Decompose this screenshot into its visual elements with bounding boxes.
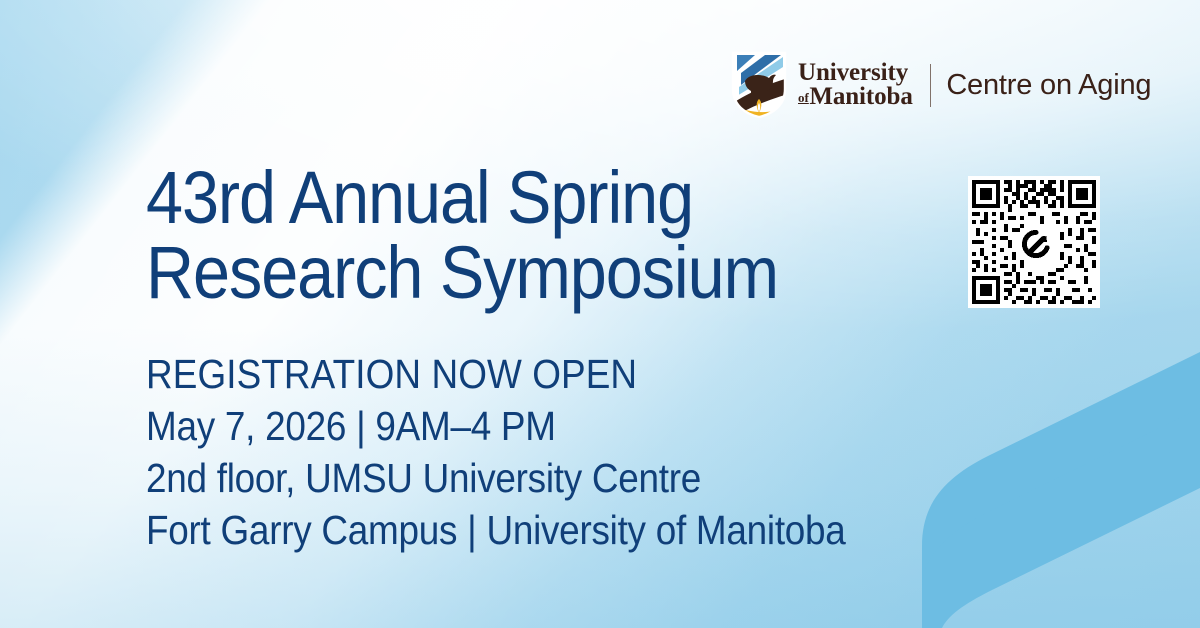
headline-line1: 43rd Annual Spring <box>146 160 830 235</box>
details-venue: 2nd floor, UMSU University Centre <box>146 452 884 504</box>
wordmark-line2: ofManitoba <box>798 85 913 109</box>
page-title: 43rd Annual Spring Research Symposium <box>146 160 830 311</box>
details-campus: Fort Garry Campus | University of Manito… <box>146 504 884 556</box>
qr-code-icon[interactable] <box>968 176 1100 308</box>
wordmark-manitoba: Manitoba <box>809 83 912 110</box>
wordmark-line1: University <box>798 61 913 85</box>
event-details: REGISTRATION NOW OPEN May 7, 2026 | 9AM–… <box>146 348 884 556</box>
unit-name: Centre on Aging <box>946 69 1151 102</box>
brand-lockup: University ofManitoba Centre on Aging <box>731 50 1151 120</box>
details-registration-status: REGISTRATION NOW OPEN <box>146 348 884 400</box>
poster-canvas: University ofManitoba Centre on Aging 43… <box>0 0 1200 628</box>
vertical-divider-icon <box>930 64 932 107</box>
wordmark-of: of <box>798 90 809 105</box>
um-swoosh-mark-icon <box>870 328 1200 628</box>
um-crest-icon <box>731 51 787 119</box>
details-date-time: May 7, 2026 | 9AM–4 PM <box>146 400 884 452</box>
headline-line2: Research Symposium <box>146 235 830 310</box>
um-wordmark: University ofManitoba <box>798 61 913 110</box>
